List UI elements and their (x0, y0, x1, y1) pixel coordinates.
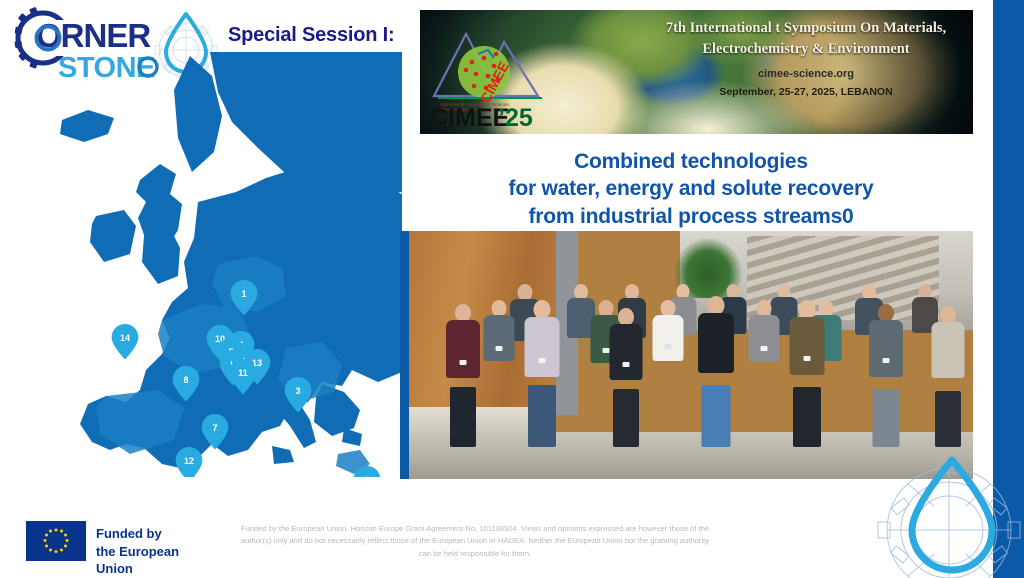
eu-flag-icon (26, 521, 86, 561)
svg-text:4: 4 (364, 475, 369, 477)
special-session-label: Special Session I: (228, 24, 394, 47)
title-line-2: for water, energy and solute recovery (406, 175, 976, 202)
svg-text:8: 8 (183, 375, 188, 385)
person (691, 296, 742, 447)
banner-title: 7th International t Symposium On Materia… (645, 18, 967, 60)
person (860, 304, 911, 447)
banner-title-line2: Electrochemistry & Environment (645, 39, 967, 60)
person (437, 304, 488, 447)
person (646, 300, 691, 393)
map-pin-icon: 12 (176, 447, 203, 477)
svg-text:1: 1 (241, 289, 246, 299)
svg-text:’25: ’25 (498, 104, 533, 128)
svg-text:14: 14 (120, 333, 130, 343)
map-pin-icon: 14 (112, 324, 139, 359)
group-photo (400, 231, 973, 479)
person (742, 300, 787, 395)
svg-text:7: 7 (212, 423, 217, 433)
eu-funding-text: Funded by the European Union (96, 525, 208, 578)
droplet-watermark (874, 444, 1024, 578)
person (922, 306, 973, 447)
photo-scene (409, 231, 973, 479)
svg-text:3: 3 (295, 386, 300, 396)
europe-partners-map: 1 14 10 6 5 9 2 13 11 8 3 7 12 4 (22, 52, 402, 477)
presentation-title: Combined technologies for water, energy … (406, 148, 976, 230)
eu-text-line2: the European Union (96, 543, 208, 578)
banner-title-line1: 7th International t Symposium On Materia… (645, 18, 967, 39)
title-line-3: from industrial process streams0 (406, 203, 976, 230)
svg-text:11: 11 (238, 368, 248, 378)
person (781, 300, 832, 447)
title-line-1: Combined technologies (406, 148, 976, 175)
svg-text:12: 12 (184, 456, 194, 466)
person (516, 300, 567, 447)
person (601, 308, 652, 447)
eu-funding-logo: Funded by the European Union (26, 520, 208, 562)
banner-website: cimee-science.org (645, 68, 967, 80)
funding-disclaimer: Funded by the European Union. Horizon Eu… (236, 523, 714, 560)
cimee-logo: International Congress on Materials, Ele… (426, 18, 558, 128)
conference-banner: International Congress on Materials, Ele… (420, 10, 973, 134)
eu-text-line1: Funded by (96, 525, 208, 543)
slide-canvas: ORNER STONE (0, 0, 1024, 578)
people-group (409, 253, 973, 446)
banner-date-location: September, 25-27, 2025, LEBANON (645, 86, 967, 98)
